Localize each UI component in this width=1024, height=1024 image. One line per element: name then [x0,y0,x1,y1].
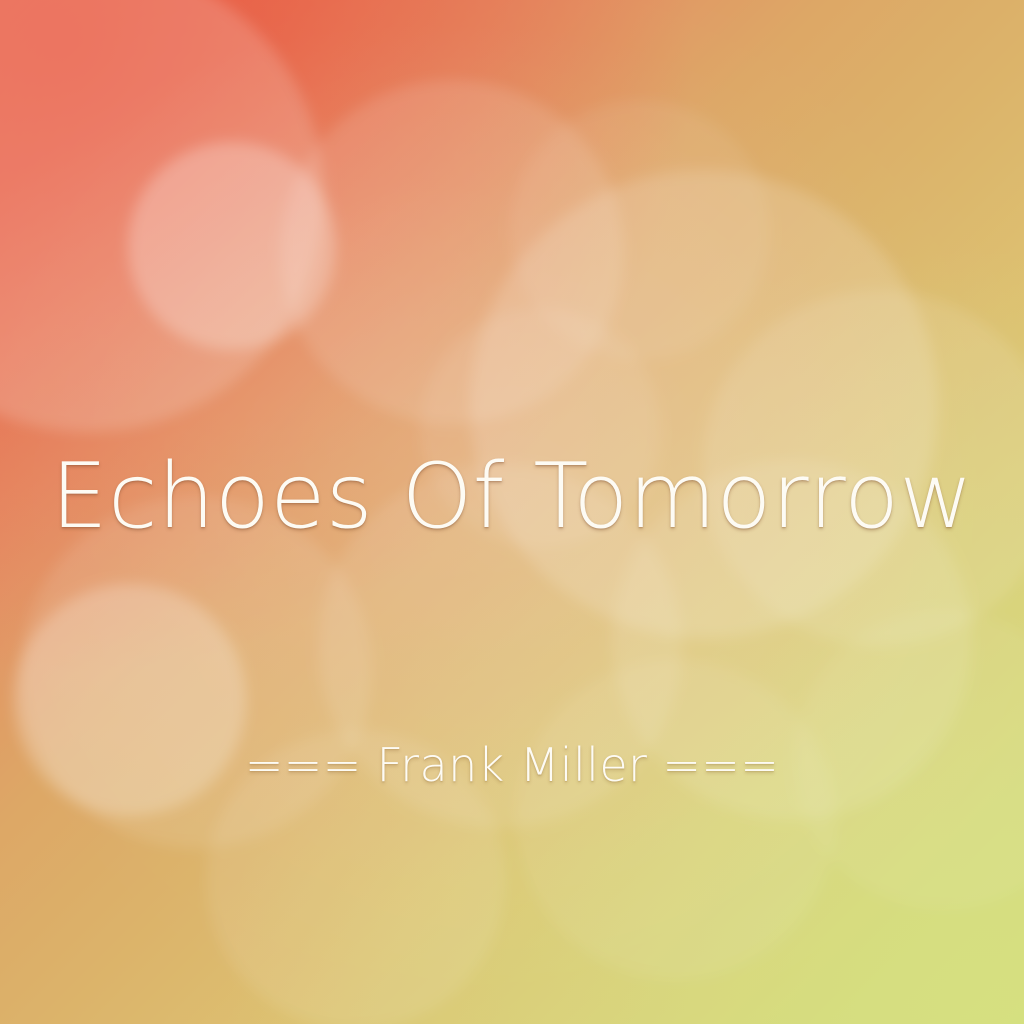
cover-text-stack: Echoes Of Tomorrow === Frank Miller === [0,0,1024,1024]
album-title: Echoes Of Tomorrow [0,452,1024,542]
album-artist-line: === Frank Miller === [0,742,1024,788]
album-cover-canvas: Echoes Of Tomorrow === Frank Miller === [0,0,1024,1024]
